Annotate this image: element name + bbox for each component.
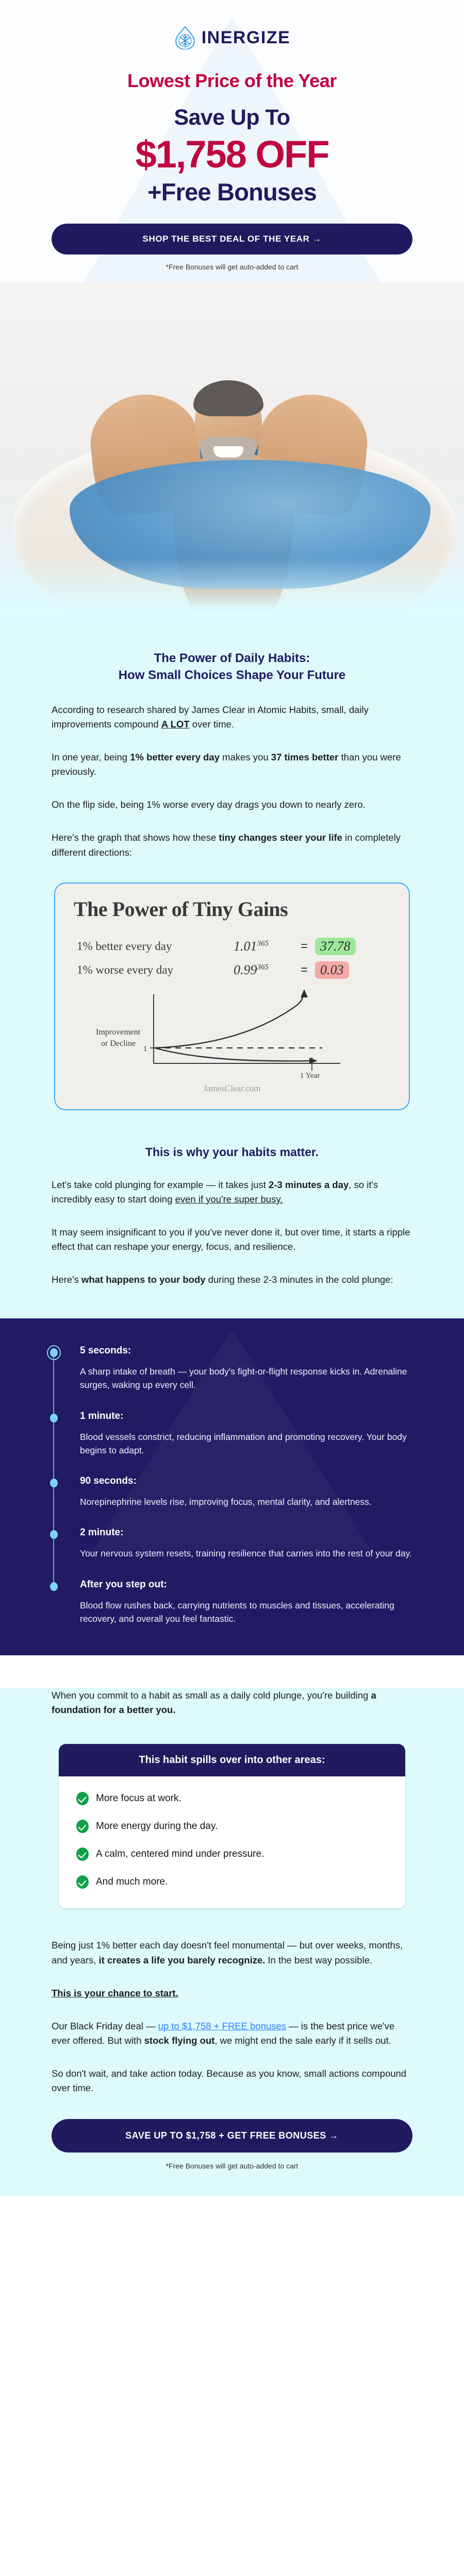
- hero-kicker: Lowest Price of the Year: [0, 70, 464, 92]
- cp2-bold-c: stock flying out: [144, 2035, 215, 2046]
- spillover-card: This habit spills over into other areas:…: [59, 1744, 405, 1908]
- shop-deal-button[interactable]: SHOP THE BEST DEAL OF THE YEAR →: [52, 224, 412, 255]
- hero-bonus: +Free Bonuses: [0, 178, 464, 206]
- list-item: More focus at work.: [76, 1792, 388, 1805]
- annotation-value-worse: 0.03: [315, 961, 349, 979]
- annotation-value-better: 37.78: [315, 938, 356, 955]
- cp2-text-a: Our Black Friday deal —: [52, 2021, 158, 2031]
- closing-commit-paragraph: When you commit to a habit as small as a…: [0, 1688, 464, 1717]
- check-circle-icon: [76, 1848, 89, 1861]
- check-circle-icon: [76, 1875, 89, 1889]
- hp3-text-c: during these 2-3 minutes in the cold plu…: [206, 1274, 393, 1285]
- habits-paragraph-1: Let's take cold plunging for example — i…: [0, 1178, 464, 1207]
- spillover-heading: This habit spills over into other areas:: [59, 1744, 405, 1776]
- annotation-expression: 1.01365: [234, 939, 293, 954]
- timeline-item-text: Blood vessels constrict, reducing inflam…: [80, 1430, 423, 1458]
- list-item-label: More energy during the day.: [96, 1821, 218, 1832]
- annotation-expression: 0.99365: [234, 962, 293, 978]
- timeline-item: 90 seconds: Norepinephrine levels rise, …: [49, 1476, 423, 1527]
- habits-paragraph-3: Here's what happens to your body during …: [0, 1273, 464, 1318]
- annotation-equals: =: [301, 939, 308, 954]
- email-page: INERGIZE Lowest Price of the Year Save U…: [0, 0, 464, 2196]
- cold-plunge-timeline-section: 5 seconds: A sharp intake of breath — yo…: [0, 1318, 464, 1655]
- annotation-exponent: 365: [257, 963, 269, 971]
- check-circle-icon: [76, 1820, 89, 1833]
- article-section: The Power of Daily Habits: How Small Cho…: [0, 620, 464, 1319]
- article-title-line1: The Power of Daily Habits:: [154, 651, 310, 665]
- chance-text: This is your chance to start.: [52, 1988, 178, 1998]
- hero-subhead: Save Up To: [0, 105, 464, 130]
- p2-text-a: In one year, being: [52, 752, 130, 762]
- list-item: A calm, centered mind under pressure.: [76, 1848, 388, 1861]
- hero-cta-note: *Free Bonuses will get auto-added to car…: [0, 263, 464, 271]
- closing-chance-line: This is your chance to start.: [0, 1986, 464, 2001]
- annotation-label: 1% better every day: [77, 940, 226, 953]
- closing-paragraph-2: Our Black Friday deal — up to $1,758 + F…: [0, 2019, 464, 2048]
- cp1-text-c: In the best way possible.: [265, 1955, 372, 1965]
- article-title-line2: How Small Choices Shape Your Future: [119, 668, 346, 682]
- hair: [193, 380, 263, 416]
- timeline-item-text: Your nervous system resets, training res…: [80, 1547, 423, 1560]
- timeline-item-text: A sharp intake of breath — your body's f…: [80, 1365, 423, 1392]
- hp1-underline-d: even if you're super busy.: [175, 1194, 283, 1205]
- chart-y-axis-label-line1: Improvement: [96, 1028, 141, 1037]
- closing-paragraph-1: Being just 1% better each day doesn't fe…: [0, 1938, 464, 1967]
- p1-emphasis: A LOT: [161, 719, 190, 730]
- hp1-bold-b: 2-3 minutes a day: [269, 1179, 349, 1190]
- chart-annotations: 1% better every day 1.01365 = 37.78 1% w…: [77, 938, 394, 979]
- chart-annotation-row: 1% worse every day 0.99365 = 0.03: [77, 961, 394, 979]
- annotation-label: 1% worse every day: [77, 963, 226, 977]
- hp3-text-a: Here's: [52, 1274, 81, 1285]
- brand-name: INERGIZE: [202, 28, 291, 48]
- cp2-text-d: , we might end the sale early if it sell…: [214, 2035, 391, 2046]
- timeline-item: 1 minute: Blood vessels constrict, reduc…: [49, 1411, 423, 1476]
- chart-y-tick-label: 1: [143, 1045, 147, 1053]
- closing-cta-note: *Free Bonuses will get auto-added to car…: [0, 2153, 464, 2196]
- list-item-label: A calm, centered mind under pressure.: [96, 1849, 264, 1860]
- tiny-gains-chart: The Power of Tiny Gains 1% better every …: [54, 883, 410, 1110]
- check-circle-icon: [76, 1792, 89, 1805]
- timeline-item-label: 90 seconds:: [80, 1476, 423, 1487]
- closing-section: When you commit to a habit as small as a…: [0, 1688, 464, 2196]
- spillover-list: More focus at work. More energy during t…: [59, 1776, 405, 1908]
- water-drop-snowflake-icon: [174, 26, 196, 49]
- timeline-item-label: 2 minute:: [80, 1527, 423, 1538]
- article-paragraph-1: According to research shared by James Cl…: [0, 703, 464, 732]
- timeline-item: 5 seconds: A sharp intake of breath — yo…: [49, 1345, 423, 1411]
- list-item-label: And much more.: [96, 1876, 168, 1888]
- article-paragraph-3: On the flip side, being 1% worse every d…: [0, 798, 464, 812]
- habits-paragraph-2: It may seem insignificant to you if you'…: [0, 1225, 464, 1254]
- article-paragraph-4: Here's the graph that shows how these ti…: [0, 831, 464, 859]
- timeline-connector: [53, 1483, 54, 1530]
- p4-bold-b: tiny changes steer your life: [219, 832, 342, 843]
- timeline-item-text: Blood flow rushes back, carrying nutrien…: [80, 1599, 423, 1626]
- hp3-bold-b: what happens to your body: [81, 1274, 206, 1285]
- article-paragraph-2: In one year, being 1% better every day m…: [0, 750, 464, 779]
- hp1-text-a: Let's take cold plunging for example — i…: [52, 1179, 269, 1190]
- list-item: And much more.: [76, 1875, 388, 1889]
- chart-plot-area: 1 Improvement or Decline 1 Year: [70, 985, 394, 1080]
- article-title: The Power of Daily Habits: How Small Cho…: [0, 620, 464, 684]
- hero-section: INERGIZE Lowest Price of the Year Save U…: [0, 0, 464, 282]
- hero-photo: [0, 282, 464, 620]
- p2-bold-d: 37 times better: [271, 752, 339, 762]
- p4-text-a: Here's the graph that shows how these: [52, 832, 219, 843]
- annotation-base: 1.01: [234, 939, 257, 954]
- timeline-dot-icon: [50, 1582, 58, 1591]
- timeline-item-text: Norepinephrine levels rise, improving fo…: [80, 1495, 423, 1509]
- timeline: 5 seconds: A sharp intake of breath — yo…: [0, 1345, 464, 1625]
- timeline-connector: [53, 1352, 54, 1414]
- timeline-connector: [53, 1418, 54, 1479]
- timeline-item-label: 5 seconds:: [80, 1345, 423, 1357]
- timeline-connector: [53, 1534, 54, 1582]
- timeline-item: After you step out: Blood flow rushes ba…: [49, 1579, 423, 1626]
- cp1-bold-b: it creates a life you barely recognize.: [99, 1955, 266, 1965]
- p2-text-c: makes you: [220, 752, 271, 762]
- annotation-exponent: 365: [257, 939, 269, 947]
- timeline-item: 2 minute: Your nervous system resets, tr…: [49, 1527, 423, 1579]
- list-item-label: More focus at work.: [96, 1793, 181, 1804]
- hero-price: $1,758 OFF: [0, 134, 464, 175]
- habits-title: This is why your habits matter.: [0, 1115, 464, 1159]
- list-item: More energy during the day.: [76, 1820, 388, 1833]
- smile: [213, 446, 243, 457]
- deal-link[interactable]: up to $1,758 + FREE bonuses: [158, 2021, 286, 2031]
- commit-text-a: When you commit to a habit as small as a…: [52, 1690, 371, 1701]
- p2-bold-b: 1% better every day: [130, 752, 220, 762]
- p1-text-c: over time.: [190, 719, 234, 730]
- chart-title: The Power of Tiny Gains: [74, 897, 394, 921]
- closing-paragraph-3: So don't wait, and take action today. Be…: [0, 2066, 464, 2095]
- chart-x-tick-label: 1 Year: [300, 1072, 320, 1080]
- chart-y-axis-label-line2: or Decline: [101, 1039, 136, 1048]
- photo-fade: [0, 558, 464, 620]
- brand-logo[interactable]: INERGIZE: [0, 0, 464, 61]
- chart-credit: JamesClear.com: [70, 1080, 394, 1096]
- annotation-base: 0.99: [234, 962, 257, 977]
- chart-annotation-row: 1% better every day 1.01365 = 37.78: [77, 938, 394, 955]
- timeline-item-label: After you step out:: [80, 1579, 423, 1590]
- save-bonuses-button[interactable]: SAVE UP TO $1,758 + GET FREE BONUSES →: [52, 2119, 412, 2153]
- timeline-item-label: 1 minute:: [80, 1411, 423, 1422]
- annotation-equals: =: [301, 963, 308, 977]
